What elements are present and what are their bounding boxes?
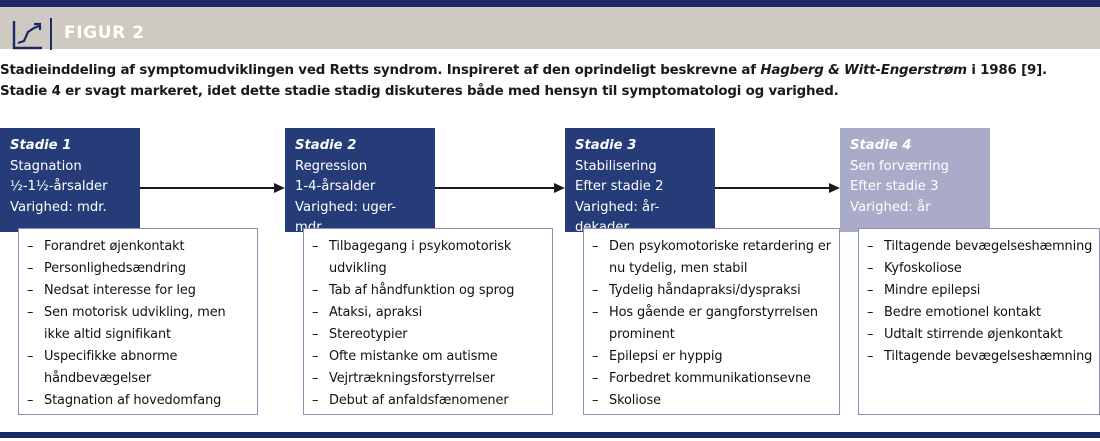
stage-3-header: Stadie 3 Stabilisering Efter stadie 2 Va…	[565, 128, 715, 232]
list-bullet-dash: –	[27, 346, 33, 368]
stage-4-duration: Varighed: år	[850, 198, 980, 219]
list-item: –Tydelig håndapraksi/dyspraksi	[592, 280, 833, 302]
stage-2-header: Stadie 2 Regression 1-4-årsalder Varighe…	[285, 128, 435, 232]
list-item: –Den psykomotoriske retardering er nu ty…	[592, 236, 833, 280]
list-item-text: Den psykomotoriske retardering er nu tyd…	[609, 239, 831, 276]
list-bullet-dash: –	[592, 302, 598, 324]
arrow-shaft	[435, 187, 554, 189]
stage-2-symptom-list: –Tilbagegang i psykomotorisk udvikling –…	[303, 228, 553, 415]
list-item-text: Debut af anfaldsfænomener	[329, 393, 509, 408]
list-item-text: Hos gående er gangforstyrrelsen prominen…	[609, 305, 818, 342]
figure-banner: FIGUR 2	[0, 7, 1100, 49]
list-item-text: Sen motorisk udvikling, men ikke altid s…	[44, 305, 226, 342]
list-item: –Epilepsi er hyppig	[592, 346, 833, 368]
caption-citation-authors: Hagberg & Witt-Engerstrøm	[760, 63, 967, 78]
arrow-head	[554, 183, 565, 193]
list-bullet-dash: –	[27, 302, 33, 324]
list-bullet-dash: –	[592, 368, 598, 390]
stage-1-header: Stadie 1 Stagnation ½-1½-årsalder Varigh…	[0, 128, 140, 232]
banner-divider	[50, 18, 52, 50]
list-bullet-dash: –	[867, 302, 873, 324]
stage-4-name: Sen forværring	[850, 157, 980, 178]
list-item-text: Ofte mistanke om autisme	[329, 349, 498, 364]
list-bullet-dash: –	[867, 324, 873, 346]
list-item: –Ofte mistanke om autisme	[312, 346, 546, 368]
list-bullet-dash: –	[312, 280, 318, 302]
arrow-head	[829, 183, 840, 193]
list-item: –Nedsat interesse for leg	[27, 280, 251, 302]
list-item: –Skoliose	[592, 390, 833, 412]
list-bullet-dash: –	[312, 324, 318, 346]
list-bullet-dash: –	[312, 368, 318, 390]
list-item: –Forandret øjenkontakt	[27, 236, 251, 258]
list-item-text: Mindre epilepsi	[884, 283, 980, 298]
list-item: –Tilbagegang i psykomotorisk udvikling	[312, 236, 546, 280]
stage-4-age: Efter stadie 3	[850, 177, 980, 198]
list-item-text: Tiltagende bevægelseshæmning	[884, 239, 1092, 254]
list-item: –Sen motorisk udvikling, men ikke altid …	[27, 302, 251, 346]
arrow-stage3-to-stage4	[715, 183, 840, 193]
arrow-stage1-to-stage2	[140, 183, 285, 193]
stage-3-symptom-list: –Den psykomotoriske retardering er nu ty…	[583, 228, 840, 415]
stage-3-label: Stadie 3	[575, 136, 705, 157]
list-item-text: Nedsat interesse for leg	[44, 283, 196, 298]
list-item-text: Kyfoskoliose	[884, 261, 962, 276]
list-item: –Bedre emotionel kontakt	[867, 302, 1093, 324]
list-bullet-dash: –	[27, 390, 33, 412]
list-item: –Personlighedsændring	[27, 258, 251, 280]
list-bullet-dash: –	[592, 346, 598, 368]
list-item-text: Stagnation af hovedomfang	[44, 393, 221, 408]
list-item-text: Epilepsi er hyppig	[609, 349, 722, 364]
list-item-text: Uspecifikke abnorme håndbevægelser	[44, 349, 177, 386]
list-item-text: Personlighedsændring	[44, 261, 186, 276]
list-item-text: Skoliose	[609, 393, 661, 408]
list-item: –Forbedret kommunikationsevne	[592, 368, 833, 390]
list-bullet-dash: –	[27, 236, 33, 258]
list-bullet-dash: –	[867, 258, 873, 280]
list-item-text: Ataksi, apraksi	[329, 305, 422, 320]
stage-1-name: Stagnation	[10, 157, 130, 178]
stage-4-label: Stadie 4	[850, 136, 980, 157]
list-bullet-dash: –	[27, 258, 33, 280]
list-item: –Stagnation af hovedomfang	[27, 390, 251, 412]
list-bullet-dash: –	[312, 390, 318, 412]
list-item-text: Vejrtrækningsforstyrrelser	[329, 371, 495, 386]
arrow-head	[274, 183, 285, 193]
list-item: –Tab af håndfunktion og sprog	[312, 280, 546, 302]
list-item: –Mindre epilepsi	[867, 280, 1093, 302]
list-bullet-dash: –	[312, 236, 318, 258]
list-item-text: Tilbagegang i psykomotorisk udvikling	[329, 239, 511, 276]
list-item: –Tiltagende bevægelseshæmning	[867, 346, 1093, 368]
list-bullet-dash: –	[312, 346, 318, 368]
list-item-text: Tab af håndfunktion og sprog	[329, 283, 514, 298]
arrow-shaft	[140, 187, 274, 189]
list-item: –Ataksi, apraksi	[312, 302, 546, 324]
list-bullet-dash: –	[867, 346, 873, 368]
arrow-shaft	[715, 187, 829, 189]
stage-2-age: 1-4-årsalder	[295, 177, 425, 198]
stage-3-age: Efter stadie 2	[575, 177, 705, 198]
bottom-rule-divider	[0, 432, 1100, 438]
stage-4-header: Stadie 4 Sen forværring Efter stadie 3 V…	[840, 128, 990, 232]
list-item: –Udtalt stirrende øjenkontakt	[867, 324, 1093, 346]
list-bullet-dash: –	[312, 302, 318, 324]
list-item-text: Forandret øjenkontakt	[44, 239, 185, 254]
figure-title: FIGUR 2	[64, 23, 145, 43]
list-item: –Vejrtrækningsforstyrrelser	[312, 368, 546, 390]
stage-1-symptom-list: –Forandret øjenkontakt –Personlighedsænd…	[18, 228, 258, 415]
list-bullet-dash: –	[867, 280, 873, 302]
caption-part-1: Stadieinddeling af symptomudviklingen ve…	[0, 63, 760, 78]
arrow-stage2-to-stage3	[435, 183, 565, 193]
list-item: –Kyfoskoliose	[867, 258, 1093, 280]
stage-4-symptom-list: –Tiltagende bevægelseshæmning –Kyfoskoli…	[858, 228, 1100, 415]
stage-2-label: Stadie 2	[295, 136, 425, 157]
list-item-text: Forbedret kommunikationsevne	[609, 371, 811, 386]
stage-1-age: ½-1½-årsalder	[10, 177, 130, 198]
line-chart-icon	[12, 20, 44, 50]
list-bullet-dash: –	[592, 390, 598, 412]
list-item: –Debut af anfaldsfænomener	[312, 390, 546, 412]
list-item: –Hos gående er gangforstyrrelsen promine…	[592, 302, 833, 346]
top-rule-divider	[0, 0, 1100, 7]
stage-1-duration: Varighed: mdr.	[10, 198, 130, 219]
figure-caption: Stadieinddeling af symptomudviklingen ve…	[0, 60, 1098, 102]
list-bullet-dash: –	[592, 236, 598, 258]
list-bullet-dash: –	[867, 236, 873, 258]
list-item-text: Stereotypier	[329, 327, 407, 342]
list-bullet-dash: –	[592, 280, 598, 302]
stage-1-label: Stadie 1	[10, 136, 130, 157]
stage-2-name: Regression	[295, 157, 425, 178]
list-item-text: Tiltagende bevægelseshæmning	[884, 349, 1092, 364]
list-item-text: Bedre emotionel kontakt	[884, 305, 1041, 320]
list-item: –Stereotypier	[312, 324, 546, 346]
list-item-text: Udtalt stirrende øjenkontakt	[884, 327, 1062, 342]
list-item: –Uspecifikke abnorme håndbevægelser	[27, 346, 251, 390]
figure-2-panel: FIGUR 2 Stadieinddeling af symptomudvikl…	[0, 0, 1100, 441]
stage-3-name: Stabilisering	[575, 157, 705, 178]
list-item-text: Tydelig håndapraksi/dyspraksi	[609, 283, 801, 298]
list-bullet-dash: –	[27, 280, 33, 302]
list-item: –Tiltagende bevægelseshæmning	[867, 236, 1093, 258]
